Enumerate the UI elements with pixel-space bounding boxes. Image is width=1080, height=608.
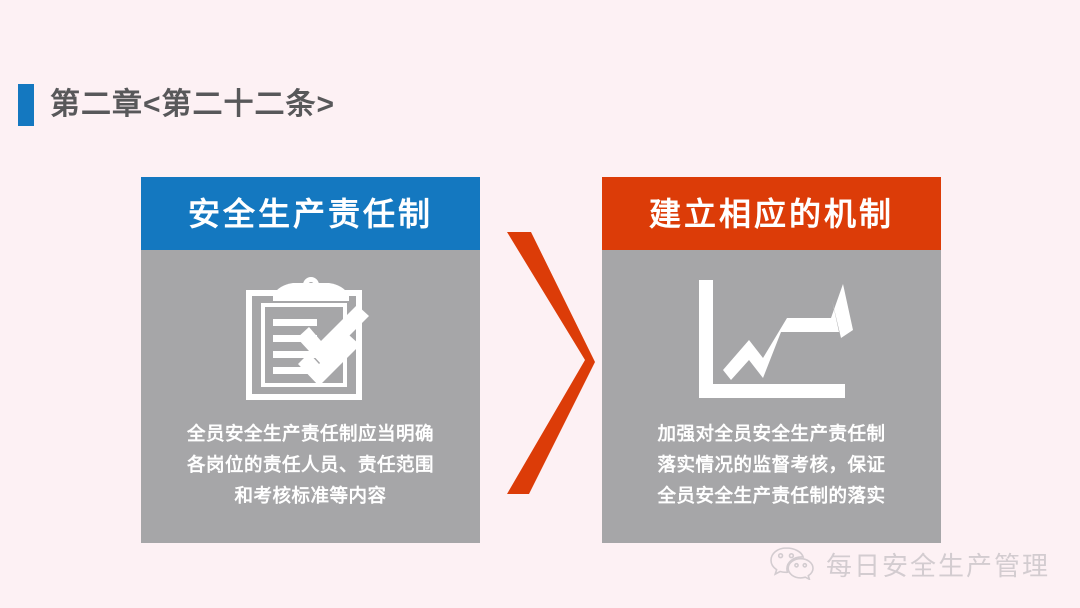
card-body-left-line-2: 各岗位的责任人员、责任范围 [161, 449, 461, 480]
card-establish-mechanism: 建立相应的机制 加强对全员安全生产责任制 落实情况的监督考核，保证 全员安全生产… [602, 177, 941, 543]
card-header-left: 安全生产责任制 [141, 177, 480, 250]
watermark-text: 每日安全生产管理 [826, 553, 1050, 579]
card-header-right: 建立相应的机制 [602, 177, 941, 250]
wechat-icon [770, 546, 814, 585]
card-safety-responsibility: 安全生产责任制 全员安全生产责任制应当明确 各岗位的责任人员、责任范围 和考核标… [141, 177, 480, 543]
card-body-right: 加强对全员安全生产责任制 落实情况的监督考核，保证 全员安全生产责任制的落实 [622, 418, 922, 511]
chevron-right-icon [495, 232, 595, 494]
card-body-right-line-2: 落实情况的监督考核，保证 [622, 449, 922, 480]
card-body-left-line-3: 和考核标准等内容 [161, 480, 461, 511]
card-header-right-text: 建立相应的机制 [649, 198, 894, 230]
card-body-right-line-3: 全员安全生产责任制的落实 [622, 480, 922, 511]
page-title-text: 第二章<第二十二条> [50, 90, 335, 120]
card-body-right-line-1: 加强对全员安全生产责任制 [622, 418, 922, 449]
card-header-left-text: 安全生产责任制 [188, 198, 433, 230]
title-accent-bar [18, 84, 34, 126]
watermark: 每日安全生产管理 [770, 546, 1050, 585]
page-title: 第二章<第二十二条> [18, 84, 335, 126]
clipboard-checklist-icon [245, 276, 377, 404]
card-body-left: 全员安全生产责任制应当明确 各岗位的责任人员、责任范围 和考核标准等内容 [161, 418, 461, 511]
card-body-left-line-1: 全员安全生产责任制应当明确 [161, 418, 461, 449]
line-chart-icon [691, 276, 853, 404]
